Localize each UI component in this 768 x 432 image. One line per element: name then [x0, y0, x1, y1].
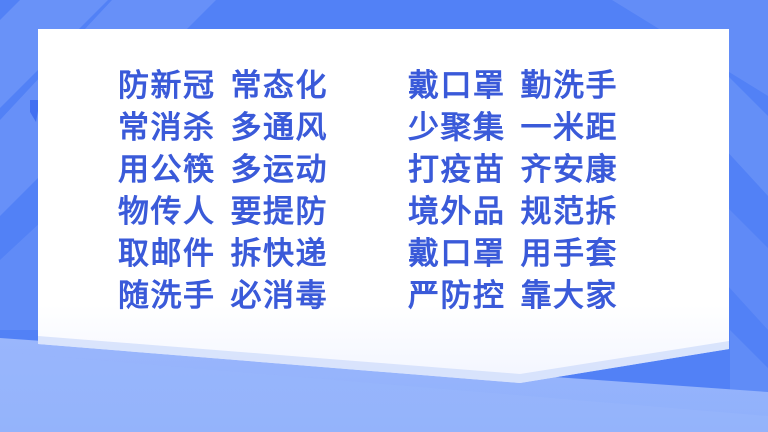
slogan-phrase: 物传人 [118, 197, 216, 228]
slogan-phrase: 戴口罩 [408, 239, 506, 270]
slogan-row: 常消杀 多通风 少聚集 一米距 [118, 108, 658, 148]
slogan-cell-right: 少聚集 一米距 [408, 113, 658, 144]
slogan-cell-right: 戴口罩 勤洗手 [408, 71, 658, 102]
slogan-phrase: 防新冠 [118, 71, 216, 102]
slogan-cell-right: 戴口罩 用手套 [408, 239, 658, 270]
slogan-board: 防新冠 常态化 戴口罩 勤洗手 常消杀 多通风 少聚集 一米距 用公筷 多运动 … [118, 66, 658, 316]
slogan-row: 防新冠 常态化 戴口罩 勤洗手 [118, 66, 658, 106]
slogan-phrase: 常消杀 [118, 113, 216, 144]
slogan-cell-left: 取邮件 拆快递 [118, 239, 408, 270]
slogan-phrase: 规范拆 [521, 197, 619, 228]
slogan-phrase: 用公筷 [118, 155, 216, 186]
slogan-phrase: 常态化 [231, 71, 329, 102]
slogan-phrase: 一米距 [521, 113, 619, 144]
slogan-cell-left: 防新冠 常态化 [118, 71, 408, 102]
slogan-cell-left: 物传人 要提防 [118, 197, 408, 228]
slogan-phrase: 取邮件 [118, 239, 216, 270]
slogan-phrase: 少聚集 [408, 113, 506, 144]
slogan-phrase: 拆快递 [231, 239, 329, 270]
slogan-phrase: 多通风 [231, 113, 329, 144]
slogan-cell-left: 随洗手 必消毒 [118, 281, 408, 312]
slogan-row: 物传人 要提防 境外品 规范拆 [118, 192, 658, 232]
slogan-row: 取邮件 拆快递 戴口罩 用手套 [118, 234, 658, 274]
slogan-cell-right: 严防控 靠大家 [408, 281, 658, 312]
slogan-row: 随洗手 必消毒 严防控 靠大家 [118, 276, 658, 316]
slogan-phrase: 要提防 [231, 197, 329, 228]
slogan-phrase: 随洗手 [118, 281, 216, 312]
slogan-phrase: 必消毒 [231, 281, 329, 312]
slogan-phrase: 用手套 [521, 239, 619, 270]
slogan-row: 用公筷 多运动 打疫苗 齐安康 [118, 150, 658, 190]
slogan-phrase: 勤洗手 [521, 71, 619, 102]
slogan-cell-right: 境外品 规范拆 [408, 197, 658, 228]
slogan-cell-left: 常消杀 多通风 [118, 113, 408, 144]
slogan-phrase: 境外品 [408, 197, 506, 228]
slogan-phrase: 齐安康 [521, 155, 619, 186]
slogan-phrase: 戴口罩 [408, 71, 506, 102]
slogan-cell-left: 用公筷 多运动 [118, 155, 408, 186]
slogan-phrase: 打疫苗 [408, 155, 506, 186]
slogan-phrase: 多运动 [231, 155, 329, 186]
slogan-phrase: 靠大家 [521, 281, 619, 312]
slogan-phrase: 严防控 [408, 281, 506, 312]
slogan-cell-right: 打疫苗 齐安康 [408, 155, 658, 186]
